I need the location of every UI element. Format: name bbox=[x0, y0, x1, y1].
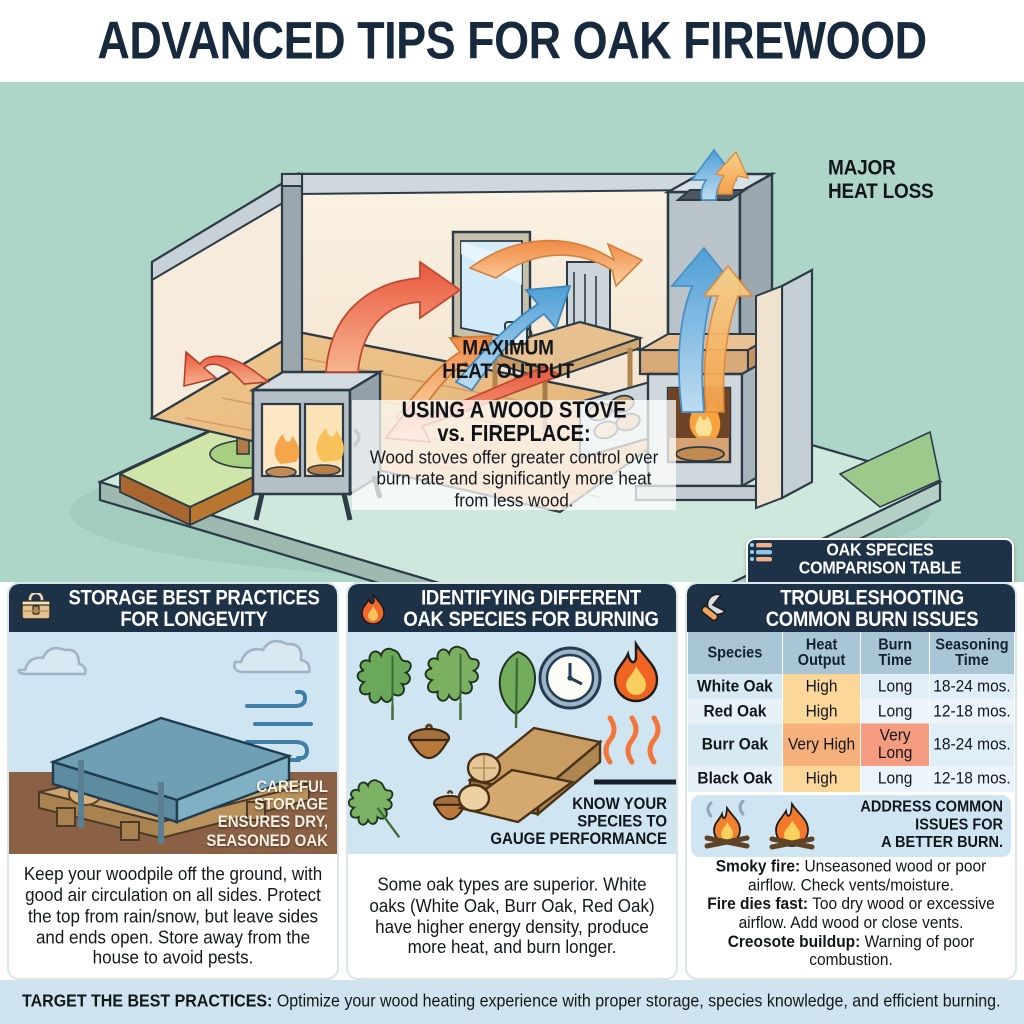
panel-troubleshooting-header: TROUBLESHOOTING COMMON BURN ISSUES bbox=[687, 584, 1015, 632]
footer-bar: TARGET THE BEST PRACTICES: Optimize your… bbox=[0, 980, 1024, 1024]
cell-species: Red Oak bbox=[688, 698, 783, 725]
comparison-title-line2: COMPARISON TABLE bbox=[756, 560, 1004, 578]
flame-icon bbox=[358, 592, 388, 624]
issue-label: Smoky fire: bbox=[716, 858, 800, 876]
label-maximum-heat-output: MAXIMUM HEAT OUTPUT bbox=[408, 338, 608, 384]
panel-species-title-line2: OAK SPECIES FOR BURNING bbox=[396, 608, 666, 630]
panel-troubleshooting-title-line2: COMMON BURN ISSUES bbox=[739, 608, 1005, 630]
comparison-title-line1: OAK SPECIES bbox=[756, 542, 1004, 560]
infographic-page: ADVANCED TIPS FOR OAK FIREWOOD bbox=[0, 0, 1024, 1024]
cell-species: Black Oak bbox=[688, 765, 783, 792]
callout-heading-line2: vs. FIREPLACE: bbox=[402, 423, 627, 447]
cell-species: White Oak bbox=[688, 673, 783, 700]
footer-text: TARGET THE BEST PRACTICES: Optimize your… bbox=[22, 992, 1001, 1012]
smoky-campfire-icon bbox=[699, 800, 757, 852]
panel-species: IDENTIFYING DIFFERENT OAK SPECIES FOR BU… bbox=[346, 582, 678, 980]
oak-species-comparison-card: OAK SPECIES COMPARISON TABLE White Oak H… bbox=[746, 538, 1014, 582]
panel-species-figure-tag: KNOW YOUR SPECIES TO GAUGE PERFORMANCE bbox=[490, 795, 667, 848]
callout-heading-line1: USING A WOOD STOVE bbox=[402, 399, 627, 423]
panel-storage: STORAGE BEST PRACTICES FOR LONGEVITY bbox=[7, 582, 339, 980]
panel-species-figure: KNOW YOUR SPECIES TO GAUGE PERFORMANCE bbox=[348, 632, 676, 854]
issue-label: Creosote buildup: bbox=[728, 932, 861, 950]
issue-label: Fire dies fast: bbox=[707, 895, 808, 913]
issue-creosote-buildup: Creosote buildup: Warning of poor combus… bbox=[693, 932, 1009, 969]
cell-heat: High bbox=[782, 673, 860, 700]
cell-burn: Long bbox=[861, 698, 930, 725]
panel-species-header: IDENTIFYING DIFFERENT OAK SPECIES FOR BU… bbox=[348, 584, 676, 632]
callout-heading: USING A WOOD STOVE vs. FIREPLACE: bbox=[402, 399, 627, 447]
label-major-heat-loss: MAJOR HEAT LOSS bbox=[828, 158, 1008, 204]
page-title: ADVANCED TIPS FOR OAK FIREWOOD bbox=[97, 10, 926, 71]
table-row: White Oak High Long 18-24 mos. bbox=[688, 674, 1015, 699]
campfire-icon bbox=[763, 800, 821, 852]
table-row: Red Oak High Long 12-18 mos. bbox=[688, 699, 1015, 724]
toolbox-icon bbox=[19, 593, 53, 623]
issue-fire-dies-fast: Fire dies fast: Too dry wood or excessiv… bbox=[693, 895, 1009, 932]
table-row: Black Oak High Long 12-18 mos. bbox=[688, 766, 1015, 791]
comparison-card-header: OAK SPECIES COMPARISON TABLE bbox=[748, 540, 1012, 582]
clock-icon bbox=[540, 648, 600, 708]
hero-illustration: MAJOR HEAT LOSS MAXIMUM HEAT OUTPUT USIN… bbox=[0, 82, 1024, 582]
table-header-row: Species Heat Output Burn Time Seasoning … bbox=[688, 633, 1015, 674]
cell-species: Burr Oak bbox=[688, 723, 783, 768]
cell-burn: Long bbox=[861, 765, 930, 792]
cell-heat: High bbox=[782, 698, 860, 725]
banner-text: ADDRESS COMMON ISSUES FOR A BETTER BURN. bbox=[827, 799, 1003, 852]
comparison-card-title: OAK SPECIES COMPARISON TABLE bbox=[756, 542, 1004, 579]
cell-burn: Very Long bbox=[861, 723, 930, 768]
oak-comparison-table: Species Heat Output Burn Time Seasoning … bbox=[687, 632, 1015, 791]
footer-label: TARGET THE BEST PRACTICES: bbox=[22, 992, 272, 1011]
th-burn-time: Burn Time bbox=[861, 631, 930, 676]
title-bar: ADVANCED TIPS FOR OAK FIREWOOD bbox=[0, 0, 1024, 82]
callout-body: Wood stoves offer greater control over b… bbox=[358, 447, 670, 511]
th-species: Species bbox=[688, 631, 783, 676]
cell-season: 12-18 mos. bbox=[929, 698, 1014, 725]
panel-storage-body: Keep your woodpile off the ground, with … bbox=[9, 851, 337, 980]
stove-vs-fireplace-callout: USING A WOOD STOVE vs. FIREPLACE: Wood s… bbox=[352, 400, 676, 510]
panel-troubleshooting: TROUBLESHOOTING COMMON BURN ISSUES Speci… bbox=[685, 582, 1017, 980]
panel-species-body: Some oak types are superior. White oaks … bbox=[348, 851, 676, 980]
cell-season: 18-24 mos. bbox=[929, 673, 1014, 700]
common-issues-list: Smoky fire: Unseasoned wood or poor airf… bbox=[687, 853, 1015, 972]
panel-storage-title: STORAGE BEST PRACTICES FOR LONGEVITY bbox=[61, 586, 327, 630]
cell-season: 18-24 mos. bbox=[929, 723, 1014, 768]
panel-species-title-line1: IDENTIFYING DIFFERENT bbox=[396, 586, 666, 608]
cell-heat: High bbox=[782, 765, 860, 792]
panel-troubleshooting-title-line1: TROUBLESHOOTING bbox=[739, 586, 1005, 608]
address-issues-banner: ADDRESS COMMON ISSUES FOR A BETTER BURN. bbox=[691, 795, 1011, 857]
issue-smoky-fire: Smoky fire: Unseasoned wood or poor airf… bbox=[693, 858, 1009, 895]
panel-troubleshooting-title: TROUBLESHOOTING COMMON BURN ISSUES bbox=[739, 586, 1005, 630]
footer-body: Optimize your wood heating experience wi… bbox=[272, 992, 1000, 1011]
table-row: Burr Oak Very High Very Long 18-24 mos. bbox=[688, 724, 1015, 766]
th-seasoning-time: Seasoning Time bbox=[929, 631, 1014, 676]
cell-heat: Very High bbox=[782, 723, 860, 768]
cell-burn: Long bbox=[861, 673, 930, 700]
panel-species-title: IDENTIFYING DIFFERENT OAK SPECIES FOR BU… bbox=[396, 586, 666, 630]
panel-storage-title-line1: STORAGE BEST PRACTICES bbox=[61, 586, 327, 608]
wrench-icon bbox=[697, 592, 731, 624]
panel-storage-figure-tag: CAREFUL STORAGE ENSURES DRY, SEASONED OA… bbox=[206, 778, 328, 849]
panel-storage-figure: CAREFUL STORAGE ENSURES DRY, SEASONED OA… bbox=[9, 632, 337, 854]
panel-storage-header: STORAGE BEST PRACTICES FOR LONGEVITY bbox=[9, 584, 337, 632]
shelf-unit bbox=[567, 262, 610, 332]
cell-season: 12-18 mos. bbox=[929, 765, 1014, 792]
panel-row: STORAGE BEST PRACTICES FOR LONGEVITY bbox=[0, 582, 1024, 980]
th-heat-output: Heat Output bbox=[782, 631, 860, 676]
panel-storage-title-line2: FOR LONGEVITY bbox=[61, 608, 327, 630]
